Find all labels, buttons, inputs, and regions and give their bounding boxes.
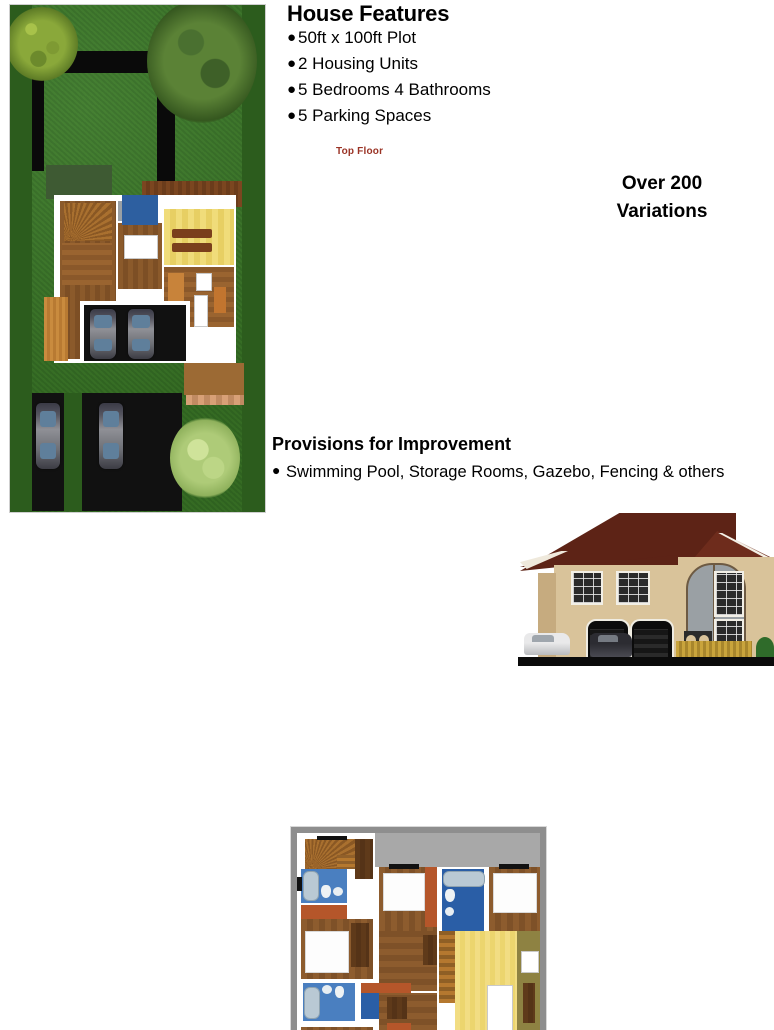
window-upper-mid <box>616 571 650 605</box>
lawn-median <box>64 393 82 511</box>
variations-line-2: Variations <box>552 198 772 226</box>
car <box>128 309 154 359</box>
variations-heading: Over 200 Variations <box>552 170 772 225</box>
side-deck <box>44 297 68 361</box>
tree-icon <box>147 4 257 123</box>
wardrobe <box>351 923 369 967</box>
tree-icon <box>9 7 78 81</box>
cabinet-2 <box>194 295 208 327</box>
toilet <box>335 986 344 998</box>
wardrobe-3 <box>387 997 407 1019</box>
window-opening <box>499 864 529 869</box>
lawn-strip-left <box>10 5 32 512</box>
bullet-icon: ● <box>287 27 298 50</box>
garage-panel <box>634 629 668 657</box>
plan-void-top-right <box>375 833 540 867</box>
bed <box>493 873 537 913</box>
toilet <box>321 885 331 898</box>
car-window <box>532 635 554 642</box>
house-front-elevation-image <box>518 511 774 666</box>
bed <box>383 873 425 911</box>
sofa-2 <box>172 243 212 252</box>
car-dark <box>590 633 632 657</box>
table <box>487 985 513 1030</box>
bullet-icon: ● <box>287 105 298 128</box>
site-plan-image <box>9 4 266 513</box>
room-floor-wood-2 <box>62 243 112 285</box>
rear-patio <box>184 363 244 395</box>
feature-text: 5 Bedrooms 4 Bathrooms <box>298 80 491 99</box>
bed <box>305 931 349 973</box>
car-rear-window <box>94 339 112 351</box>
roof-panel-left <box>46 165 112 199</box>
closet-area <box>301 905 347 919</box>
feature-text: 5 Parking Spaces <box>298 106 431 125</box>
bathtub <box>304 987 320 1019</box>
car-windshield <box>40 411 56 427</box>
provisions-item: ● Swimming Pool, Storage Rooms, Gazebo, … <box>272 461 768 483</box>
ground-line <box>518 657 774 666</box>
window-opening <box>389 864 419 869</box>
house-features-list: ●50ft x 100ft Plot ●2 Housing Units ●5 B… <box>287 25 522 128</box>
table-top <box>124 235 158 259</box>
house-features-block: House Features ●50ft x 100ft Plot ●2 Hou… <box>287 2 522 128</box>
feature-text: 50ft x 100ft Plot <box>298 28 416 47</box>
wardrobe-2 <box>425 867 437 927</box>
bathtub <box>303 871 319 901</box>
shrub <box>756 637 774 659</box>
bathroom-floor <box>122 195 158 225</box>
corridor-step <box>423 935 437 965</box>
cabinet <box>196 273 212 291</box>
stair-hall-floor <box>355 839 373 879</box>
window-upper-left <box>571 571 603 605</box>
provisions-title: Provisions for Improvement <box>272 434 768 455</box>
toilet <box>445 889 455 902</box>
bush-icon <box>170 417 240 499</box>
car-windshield <box>94 315 112 328</box>
staircase <box>64 203 112 241</box>
car <box>36 403 60 469</box>
shelf <box>523 983 535 1023</box>
car <box>99 403 123 469</box>
stair-rail <box>317 836 347 840</box>
bedroom-4-floor <box>301 1027 373 1030</box>
provisions-block: Provisions for Improvement ● Swimming Po… <box>272 434 768 483</box>
stair-down <box>439 931 455 1003</box>
list-item: ●5 Parking Spaces <box>287 103 522 129</box>
door-opening <box>297 877 302 891</box>
sink <box>445 907 454 916</box>
partition <box>214 287 226 313</box>
car-windshield <box>103 411 119 427</box>
bullet-icon: ● <box>272 461 286 483</box>
bath-1-partition <box>347 869 355 903</box>
car <box>90 309 116 359</box>
ground-floor-plan <box>46 177 240 412</box>
sofa <box>172 229 212 238</box>
sink <box>322 985 332 994</box>
bullet-icon: ● <box>287 53 298 76</box>
cabinet <box>521 951 539 973</box>
top-floor-label: Top Floor <box>336 146 383 157</box>
car-rear-window <box>40 443 56 459</box>
feature-text: 2 Housing Units <box>298 54 418 73</box>
front-path <box>186 395 244 405</box>
list-item: ●5 Bedrooms 4 Bathrooms <box>287 77 522 103</box>
window-upper-right <box>714 571 744 617</box>
car-windshield <box>132 315 150 328</box>
list-item: ●50ft x 100ft Plot <box>287 25 522 51</box>
car-silver <box>524 633 570 655</box>
top-floor-plan-image <box>290 826 547 1030</box>
car-rear-window <box>132 339 150 351</box>
house-features-title: House Features <box>287 2 522 25</box>
vanity-counter <box>361 983 411 993</box>
dresser <box>387 1023 411 1030</box>
bullet-icon: ● <box>287 79 298 102</box>
car-window <box>598 635 618 642</box>
hedge <box>676 641 752 657</box>
car-rear-window <box>103 443 119 459</box>
bathtub <box>443 871 485 887</box>
variations-line-1: Over 200 <box>552 170 772 198</box>
list-item: ●2 Housing Units <box>287 51 522 77</box>
provisions-text: Swimming Pool, Storage Rooms, Gazebo, Fe… <box>286 461 724 483</box>
sink <box>333 887 343 896</box>
